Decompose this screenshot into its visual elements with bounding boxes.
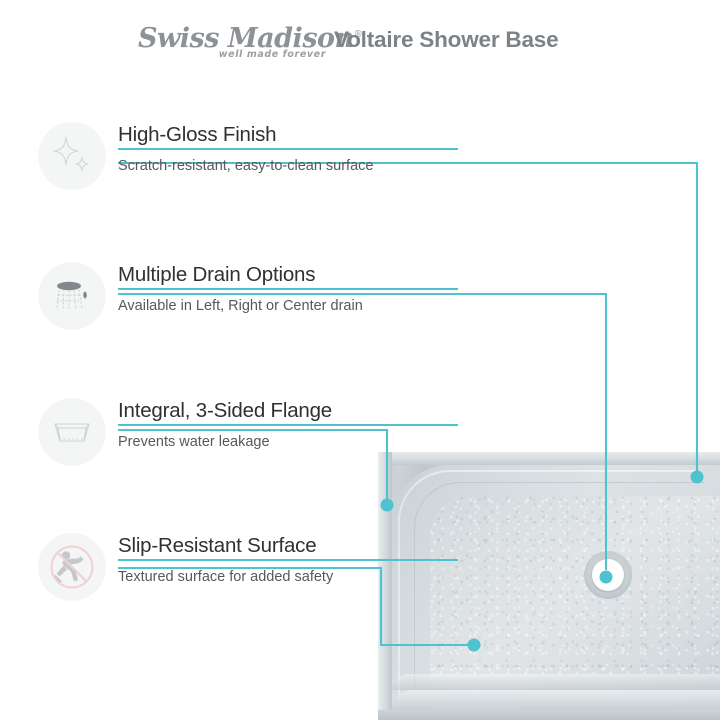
feature-description: Scratch-resistant, easy-to-clean surface: [118, 150, 458, 177]
feature-text: Slip-Resistant Surface Textured surface …: [118, 533, 458, 588]
showerhead-icon: [38, 262, 106, 330]
product-title: Voltaire Shower Base: [334, 27, 558, 53]
brand-tagline: well made forever: [219, 49, 326, 60]
center-drain: [584, 551, 632, 599]
feature-description: Available in Left, Right or Center drain: [118, 290, 458, 317]
feature-title: High-Gloss Finish: [118, 122, 458, 148]
feature-title: Integral, 3-Sided Flange: [118, 398, 458, 424]
pan-threshold-edge: [378, 710, 720, 720]
pan-rim-top: [378, 452, 720, 465]
header: Swiss Madison® well made forever Voltair…: [0, 0, 720, 85]
pan-bevel-inner: [414, 482, 704, 697]
drain-cover: [592, 559, 624, 591]
brand-logo: Swiss Madison® well made forever: [138, 20, 328, 66]
no-slip-icon: [38, 533, 106, 601]
feature-title: Multiple Drain Options: [118, 262, 458, 288]
sparkle-icon: [38, 122, 106, 190]
flange-pan-icon: [38, 398, 106, 466]
feature-title: Slip-Resistant Surface: [118, 533, 458, 559]
pan-curb-upper: [392, 674, 720, 690]
infographic-canvas: Swiss Madison® well made forever Voltair…: [0, 0, 720, 720]
feature-text: Integral, 3-Sided Flange Prevents water …: [118, 398, 458, 453]
feature-description: Prevents water leakage: [118, 426, 458, 453]
feature-description: Textured surface for added safety: [118, 561, 458, 588]
feature-text: Multiple Drain Options Available in Left…: [118, 262, 458, 317]
feature-text: High-Gloss Finish Scratch-resistant, eas…: [118, 122, 458, 177]
pan-curb-lower: [392, 690, 720, 710]
